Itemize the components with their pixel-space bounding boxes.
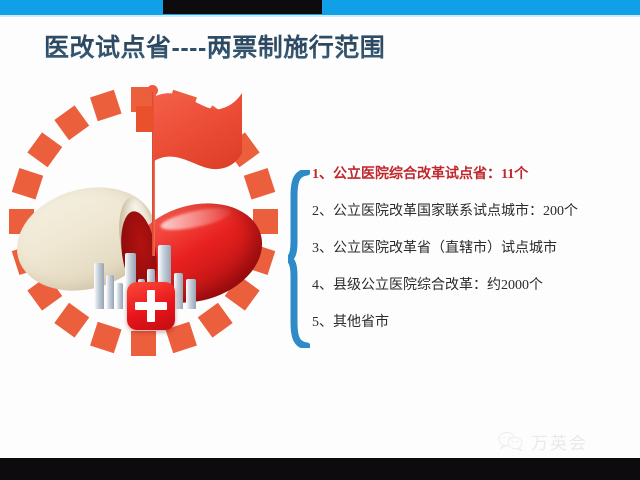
ring-square xyxy=(90,321,122,353)
ring-square xyxy=(131,331,156,356)
watermark-text: 万英会 xyxy=(531,429,588,454)
building xyxy=(174,273,183,309)
page-title: 医改试点省----两票制施行范围 xyxy=(44,28,385,64)
list-item: 2、公立医院改革国家联系试点城市：200个 xyxy=(312,205,632,219)
wechat-icon xyxy=(498,431,524,451)
building xyxy=(186,279,196,309)
cross-horizontal-bar xyxy=(135,302,167,310)
red-flag xyxy=(130,80,260,260)
top-black-notch xyxy=(163,0,322,14)
list-item: 3、公立医院改革省（直辖市）试点城市 xyxy=(312,242,632,256)
medical-cross-icon xyxy=(127,282,175,330)
ring-square xyxy=(90,89,122,121)
building xyxy=(94,263,104,309)
curly-brace xyxy=(288,170,310,348)
ring-square xyxy=(27,132,62,167)
building xyxy=(116,283,123,309)
ring-square xyxy=(54,302,89,337)
list-item: 1、公立医院综合改革试点省：11个 xyxy=(312,168,632,182)
flag-tab xyxy=(136,106,154,132)
illustration xyxy=(0,70,300,410)
top-bar-underline xyxy=(0,15,640,17)
slide-canvas: 医改试点省----两票制施行范围 1、公立医院综合改革试点省：11个 xyxy=(0,0,640,480)
building xyxy=(106,275,114,309)
list-item: 4、县级公立医院综合改革：约2000个 xyxy=(312,279,632,293)
bullet-list: 1、公立医院综合改革试点省：11个2、公立医院改革国家联系试点城市：200个3、… xyxy=(312,168,632,330)
ring-square xyxy=(54,105,89,140)
bottom-black-bar xyxy=(0,458,640,480)
watermark: 万英会 xyxy=(498,428,628,454)
list-item: 5、其他省市 xyxy=(312,316,632,330)
flag-cloth xyxy=(154,93,242,171)
